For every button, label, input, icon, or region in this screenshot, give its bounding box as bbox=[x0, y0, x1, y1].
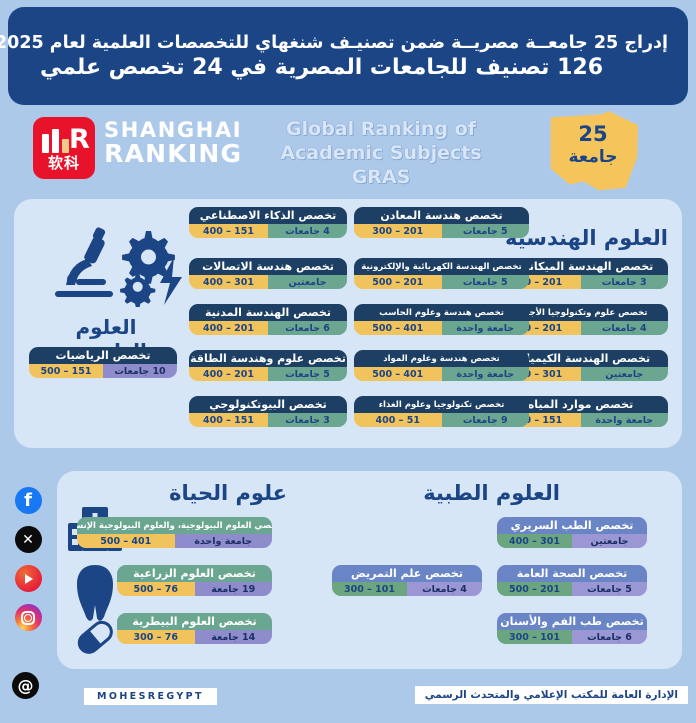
pill-range: 500 – 401 bbox=[354, 321, 442, 335]
natural-sciences-icons bbox=[32, 219, 182, 311]
pill-agricultural-sciences[interactable]: تخصص العلوم الزراعية 500 – 76 19 جامعة bbox=[117, 565, 272, 596]
pill-count: جامعة واحدة bbox=[442, 367, 530, 381]
section-heading-life-sciences: علوم الحياة bbox=[169, 481, 287, 505]
pill-range: 400 – 151 bbox=[189, 413, 268, 427]
pill-count: 9 جامعات bbox=[442, 413, 530, 427]
pill-values: 400 – 301 جامعتين bbox=[189, 275, 347, 289]
pill-public-health[interactable]: تخصص الصحة العامة 500 – 201 5 جامعات bbox=[497, 565, 647, 596]
pill-range: 500 – 201 bbox=[354, 275, 442, 289]
pill-title: تخصص هندسة وعلوم الحاسب bbox=[354, 304, 529, 321]
pill-title: تخصص هندسة الاتصالات bbox=[189, 258, 347, 275]
section-heading-engineering: العلوم الهندسية bbox=[505, 226, 668, 250]
pill-range: 400 – 51 bbox=[354, 413, 442, 427]
pill-values: 500 – 151 10 جامعات bbox=[29, 364, 177, 378]
pill-count: جامعتين bbox=[572, 534, 647, 548]
pill-title: تخصص هندسة وعلوم المواد bbox=[354, 350, 529, 367]
pill-range: 300 – 76 bbox=[117, 630, 195, 644]
universities-count-label: جامعة bbox=[545, 147, 641, 167]
pill-count: 4 جامعات bbox=[581, 321, 669, 335]
pill-title: تخصص الرياضيات bbox=[29, 347, 177, 364]
egypt-map-badge: 25 جامعة bbox=[545, 111, 641, 191]
pill-food-science-technology[interactable]: تخصص تكنولوجيا وعلوم الغذاء 400 – 51 9 ج… bbox=[354, 396, 529, 427]
pill-count: جامعة واحدة bbox=[175, 534, 273, 548]
gras-title-line-3: GRAS bbox=[251, 166, 511, 190]
x-twitter-icon[interactable]: ✕ bbox=[15, 526, 42, 553]
pill-title: تخصص الهندسة الكهربائية والإلكترونية bbox=[354, 258, 529, 275]
pill-artificial-intelligence[interactable]: تخصص الذكاء الاصطناعي 400 – 151 4 جامعات bbox=[189, 207, 347, 238]
pill-title: تخصص الطب السريري bbox=[497, 517, 647, 534]
pill-telecommunication-engineering[interactable]: تخصص هندسة الاتصالات 400 – 301 جامعتين bbox=[189, 258, 347, 289]
pill-veterinary-sciences[interactable]: تخصص العلوم البيطرية 300 – 76 14 جامعة bbox=[117, 613, 272, 644]
pill-biological-human-biological-sciences[interactable]: تخصصي العلوم البيولوجية، والعلوم البيولو… bbox=[77, 517, 272, 548]
gras-title: Global Ranking of Academic Subjects GRAS bbox=[251, 118, 511, 190]
pill-values: 400 – 51 9 جامعات bbox=[354, 413, 529, 427]
pill-values: 400 – 151 3 جامعات bbox=[189, 413, 347, 427]
footer-note: الإدارة العامة للمكتب الإعلامي والمتحدث … bbox=[415, 686, 688, 704]
logo-bars-icon bbox=[42, 127, 69, 153]
pill-count: جامعة واحدة bbox=[581, 413, 669, 427]
pill-values: 400 – 151 4 جامعات bbox=[189, 224, 347, 238]
pill-values: 400 – 201 5 جامعات bbox=[189, 367, 347, 381]
pill-range: 500 – 401 bbox=[354, 367, 442, 381]
pill-values: 300 – 101 4 جامعات bbox=[332, 582, 482, 596]
pill-title: تخصص العلوم الزراعية bbox=[117, 565, 272, 582]
gras-title-line-1: Global Ranking of bbox=[251, 118, 511, 142]
social-media-rail: f ✕ bbox=[10, 487, 46, 631]
pill-dentistry-oral-sciences[interactable]: تخصص طب الفم والأسنان 300 – 101 6 جامعات bbox=[497, 613, 647, 644]
pill-title: تخصص العلوم البيطرية bbox=[117, 613, 272, 630]
pill-values: 500 – 401 جامعة واحدة bbox=[77, 534, 272, 548]
pill-count: 6 جامعات bbox=[268, 321, 347, 335]
pill-energy-science-engineering[interactable]: تخصص علوم وهندسة الطاقة 400 – 201 5 جامع… bbox=[189, 350, 347, 381]
header-title-group: إدراج 25 جامعــة مصريــة ضمن تصنيـف شنغه… bbox=[0, 33, 674, 80]
pill-title: تخصص علم التمريض bbox=[332, 565, 482, 582]
header-bar: إدراج 25 جامعــة مصريــة ضمن تصنيـف شنغه… bbox=[8, 7, 688, 105]
pill-range: 300 – 201 bbox=[354, 224, 442, 238]
pill-count: 5 جامعات bbox=[268, 367, 347, 381]
pill-biotechnology[interactable]: تخصص البيوتكنولوجي 400 – 151 3 جامعات bbox=[189, 396, 347, 427]
pill-count: 14 جامعة bbox=[195, 630, 273, 644]
pill-mathematics[interactable]: تخصص الرياضيات 500 – 151 10 جامعات bbox=[29, 347, 177, 378]
pill-title: تخصصي العلوم البيولوجية، والعلوم البيولو… bbox=[77, 517, 272, 534]
pill-count: 4 جامعات bbox=[268, 224, 347, 238]
pill-title: تخصص هندسة المعادن bbox=[354, 207, 529, 224]
pill-range: 400 – 301 bbox=[497, 534, 572, 548]
wordmark-line-1: SHANGHAI bbox=[104, 120, 242, 141]
pill-count: 5 جامعات bbox=[442, 275, 530, 289]
pill-count: جامعتين bbox=[268, 275, 347, 289]
pill-count: 6 جامعات bbox=[572, 630, 647, 644]
pill-count: 3 جامعات bbox=[581, 275, 669, 289]
youtube-icon[interactable] bbox=[15, 565, 42, 592]
shanghai-ranking-logo-icon: R 软科 bbox=[33, 117, 95, 179]
wordmark-line-2: RANKING bbox=[104, 141, 242, 167]
threads-icon[interactable]: @ bbox=[12, 672, 39, 699]
logo-letter-r: R bbox=[69, 126, 90, 153]
pill-title: تخصص البيوتكنولوجي bbox=[189, 396, 347, 413]
pill-count: جامعتين bbox=[581, 367, 669, 381]
microscope-gear-lightning-icon bbox=[32, 219, 182, 307]
logo-chinese-text: 软科 bbox=[33, 152, 95, 173]
shanghai-ranking-wordmark: SHANGHAI RANKING bbox=[104, 120, 242, 167]
threads-glyph: @ bbox=[12, 672, 39, 699]
pill-materials-science-engineering[interactable]: تخصص هندسة وعلوم المواد 500 – 401 جامعة … bbox=[354, 350, 529, 381]
pill-values: 500 – 76 19 جامعة bbox=[117, 582, 272, 596]
pill-title: تخصص الذكاء الاصطناعي bbox=[189, 207, 347, 224]
pill-values: 500 – 201 5 جامعات bbox=[354, 275, 529, 289]
pill-values: 300 – 101 6 جامعات bbox=[497, 630, 647, 644]
section-heading-medical: العلوم الطبية bbox=[423, 481, 560, 505]
pill-title: تخصص طب الفم والأسنان bbox=[497, 613, 647, 630]
pill-count: 5 جامعات bbox=[572, 582, 647, 596]
pill-metallurgy-engineering[interactable]: تخصص هندسة المعادن 300 – 201 5 جامعات bbox=[354, 207, 529, 238]
pill-range: 400 – 201 bbox=[189, 321, 268, 335]
pill-range: 400 – 201 bbox=[189, 367, 268, 381]
pill-count: 19 جامعة bbox=[195, 582, 273, 596]
pill-computer-science-engineering[interactable]: تخصص هندسة وعلوم الحاسب 500 – 401 جامعة … bbox=[354, 304, 529, 335]
pill-range: 500 – 401 bbox=[77, 534, 175, 548]
pill-civil-engineering[interactable]: تخصص الهندسة المدنية 400 – 201 6 جامعات bbox=[189, 304, 347, 335]
pill-values: 400 – 201 6 جامعات bbox=[189, 321, 347, 335]
pill-title: تخصص الصحة العامة bbox=[497, 565, 647, 582]
page-title-line-2: 126 تصنيف للجامعات المصرية في 24 تخصص عل… bbox=[40, 55, 623, 80]
pill-title: تخصص علوم وهندسة الطاقة bbox=[189, 350, 347, 367]
pill-range: 300 – 101 bbox=[332, 582, 407, 596]
panel-engineering-natural: العلوم الهندسية تخصص هندسة المعادن 300 –… bbox=[14, 199, 682, 448]
pill-count: 4 جامعات bbox=[407, 582, 482, 596]
gras-title-line-2: Academic Subjects bbox=[251, 142, 511, 166]
pill-count: 10 جامعات bbox=[103, 364, 177, 378]
pill-count: جامعة واحدة bbox=[442, 321, 530, 335]
pill-range: 500 – 201 bbox=[497, 582, 572, 596]
pill-values: 500 – 401 جامعة واحدة bbox=[354, 367, 529, 381]
universities-count-number: 25 bbox=[545, 122, 641, 146]
pill-range: 400 – 301 bbox=[189, 275, 268, 289]
instagram-icon[interactable] bbox=[15, 604, 42, 631]
pill-count: 5 جامعات bbox=[442, 224, 530, 238]
pill-nursing-science[interactable]: تخصص علم التمريض 300 – 101 4 جامعات bbox=[332, 565, 482, 596]
page-title-line-1: إدراج 25 جامعــة مصريــة ضمن تصنيـف شنغه… bbox=[0, 33, 668, 53]
panel-medical-life: العلوم الطبية تخصص الطب السريري 400 – 30… bbox=[57, 471, 682, 669]
footer-handle: MOHESREGYPT bbox=[84, 688, 217, 705]
pill-range: 300 – 101 bbox=[497, 630, 572, 644]
pill-range: 400 – 151 bbox=[189, 224, 268, 238]
pill-title: تخصص تكنولوجيا وعلوم الغذاء bbox=[354, 396, 529, 413]
pill-clinical-medicine[interactable]: تخصص الطب السريري 400 – 301 جامعتين bbox=[497, 517, 647, 548]
pill-values: 400 – 301 جامعتين bbox=[497, 534, 647, 548]
pill-values: 500 – 401 جامعة واحدة bbox=[354, 321, 529, 335]
pill-range: 500 – 76 bbox=[117, 582, 195, 596]
pill-electrical-electronic-engineering[interactable]: تخصص الهندسة الكهربائية والإلكترونية 500… bbox=[354, 258, 529, 289]
pill-count: 3 جامعات bbox=[268, 413, 347, 427]
pill-values: 300 – 76 14 جامعة bbox=[117, 630, 272, 644]
pill-values: 500 – 201 5 جامعات bbox=[497, 582, 647, 596]
pill-values: 300 – 201 5 جامعات bbox=[354, 224, 529, 238]
pill-range: 500 – 151 bbox=[29, 364, 103, 378]
brand-strip: R 软科 SHANGHAI RANKING Global Ranking of … bbox=[0, 108, 696, 196]
pill-title: تخصص الهندسة المدنية bbox=[189, 304, 347, 321]
facebook-icon[interactable]: f bbox=[15, 487, 42, 514]
